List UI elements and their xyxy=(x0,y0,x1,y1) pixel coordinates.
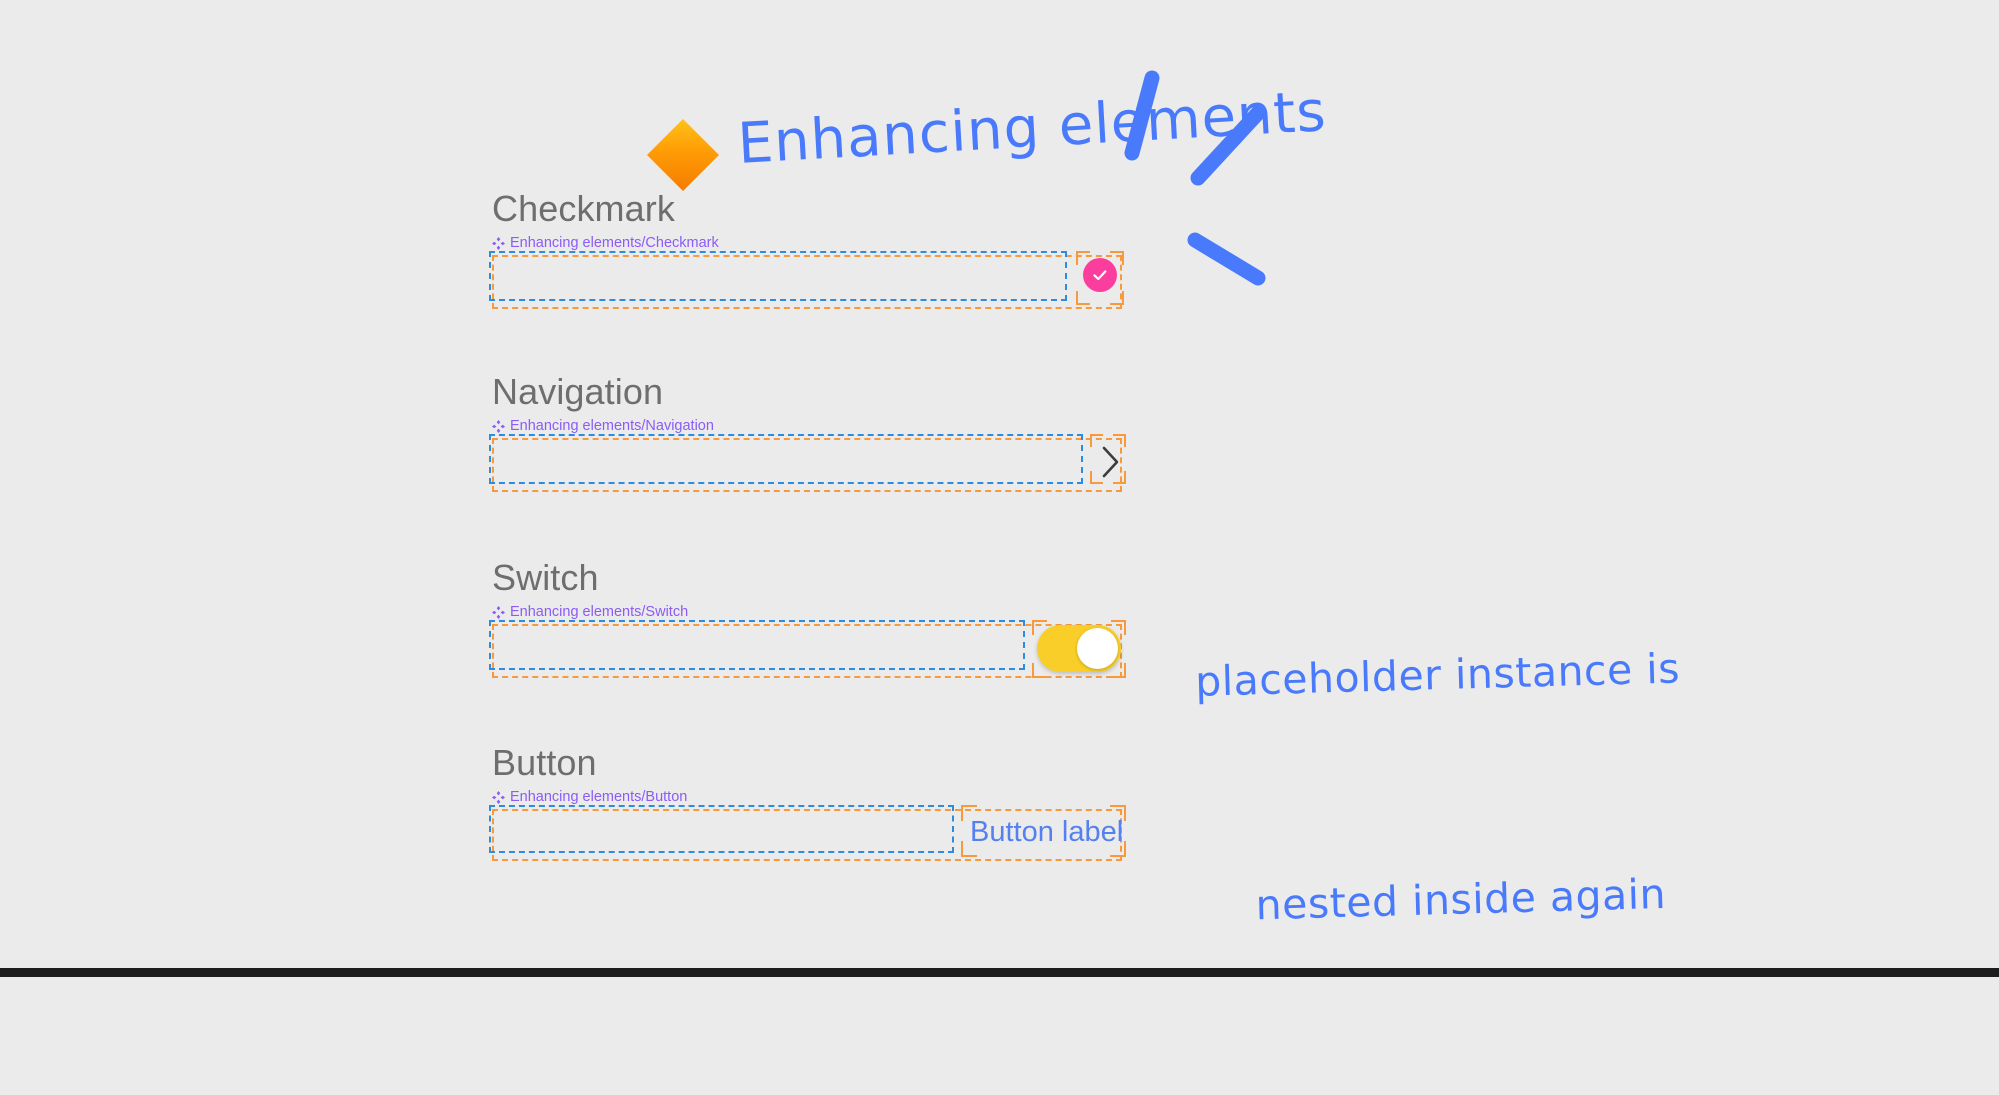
instance-label-button[interactable]: Enhancing elements/Button xyxy=(492,788,1122,806)
frame-navigation[interactable] xyxy=(492,438,1122,492)
check-icon xyxy=(1090,265,1110,285)
checkmark-badge[interactable] xyxy=(1083,258,1117,292)
design-canvas[interactable]: Enhancing elements placeholder instance … xyxy=(0,0,1999,977)
component-outline-checkmark xyxy=(492,255,1122,309)
section-checkmark: Checkmark Enhancing elements/Checkmark xyxy=(492,188,1122,309)
frame-button[interactable]: Button label xyxy=(492,809,1122,861)
instance-label-switch[interactable]: Enhancing elements/Switch xyxy=(492,603,1122,621)
annotation-note-line-1: placeholder instance is xyxy=(1194,631,1681,720)
button-label[interactable]: Button label xyxy=(970,815,1123,849)
instance-outline-switch xyxy=(489,620,1025,670)
instance-outline-checkmark xyxy=(489,251,1067,301)
annotation-title: Enhancing elements xyxy=(736,79,1328,177)
section-switch: Switch Enhancing elements/Switch xyxy=(492,557,1122,678)
section-title-checkmark: Checkmark xyxy=(492,188,1122,230)
component-outline-switch xyxy=(492,624,1122,678)
section-title-button: Button xyxy=(492,742,1122,784)
section-button: Button Enhancing elements/Button xyxy=(492,742,1122,861)
frame-switch[interactable] xyxy=(492,624,1122,678)
instance-label-text-checkmark: Enhancing elements/Checkmark xyxy=(510,236,719,250)
component-diamond-icon xyxy=(492,606,505,619)
component-diamond-icon xyxy=(492,237,505,250)
annotation-note: placeholder instance is nested inside ag… xyxy=(1190,481,1691,1094)
component-outline-navigation xyxy=(492,438,1122,492)
bottom-chrome-bar xyxy=(0,968,1999,977)
instance-label-checkmark[interactable]: Enhancing elements/Checkmark xyxy=(492,234,1122,252)
switch-knob xyxy=(1077,628,1118,669)
component-diamond-icon xyxy=(492,420,505,433)
section-navigation: Navigation Enhancing elements/Navigation xyxy=(492,371,1122,492)
section-title-switch: Switch xyxy=(492,557,1122,599)
frame-checkmark[interactable] xyxy=(492,255,1122,309)
toggle-switch[interactable] xyxy=(1037,625,1121,672)
component-diamond-icon xyxy=(492,791,505,804)
instance-label-text-switch: Enhancing elements/Switch xyxy=(510,605,688,619)
instance-label-text-button: Enhancing elements/Button xyxy=(510,790,687,804)
instance-outline-navigation xyxy=(489,434,1083,484)
annotation-note-line-2: nested inside again xyxy=(1234,856,1687,944)
instance-label-text-navigation: Enhancing elements/Navigation xyxy=(510,419,714,433)
instance-label-navigation[interactable]: Enhancing elements/Navigation xyxy=(492,417,1122,435)
chevron-right-icon[interactable] xyxy=(1100,445,1122,479)
section-title-navigation: Navigation xyxy=(492,371,1122,413)
instance-outline-button xyxy=(489,805,954,853)
orange-diamond-icon xyxy=(645,117,721,193)
